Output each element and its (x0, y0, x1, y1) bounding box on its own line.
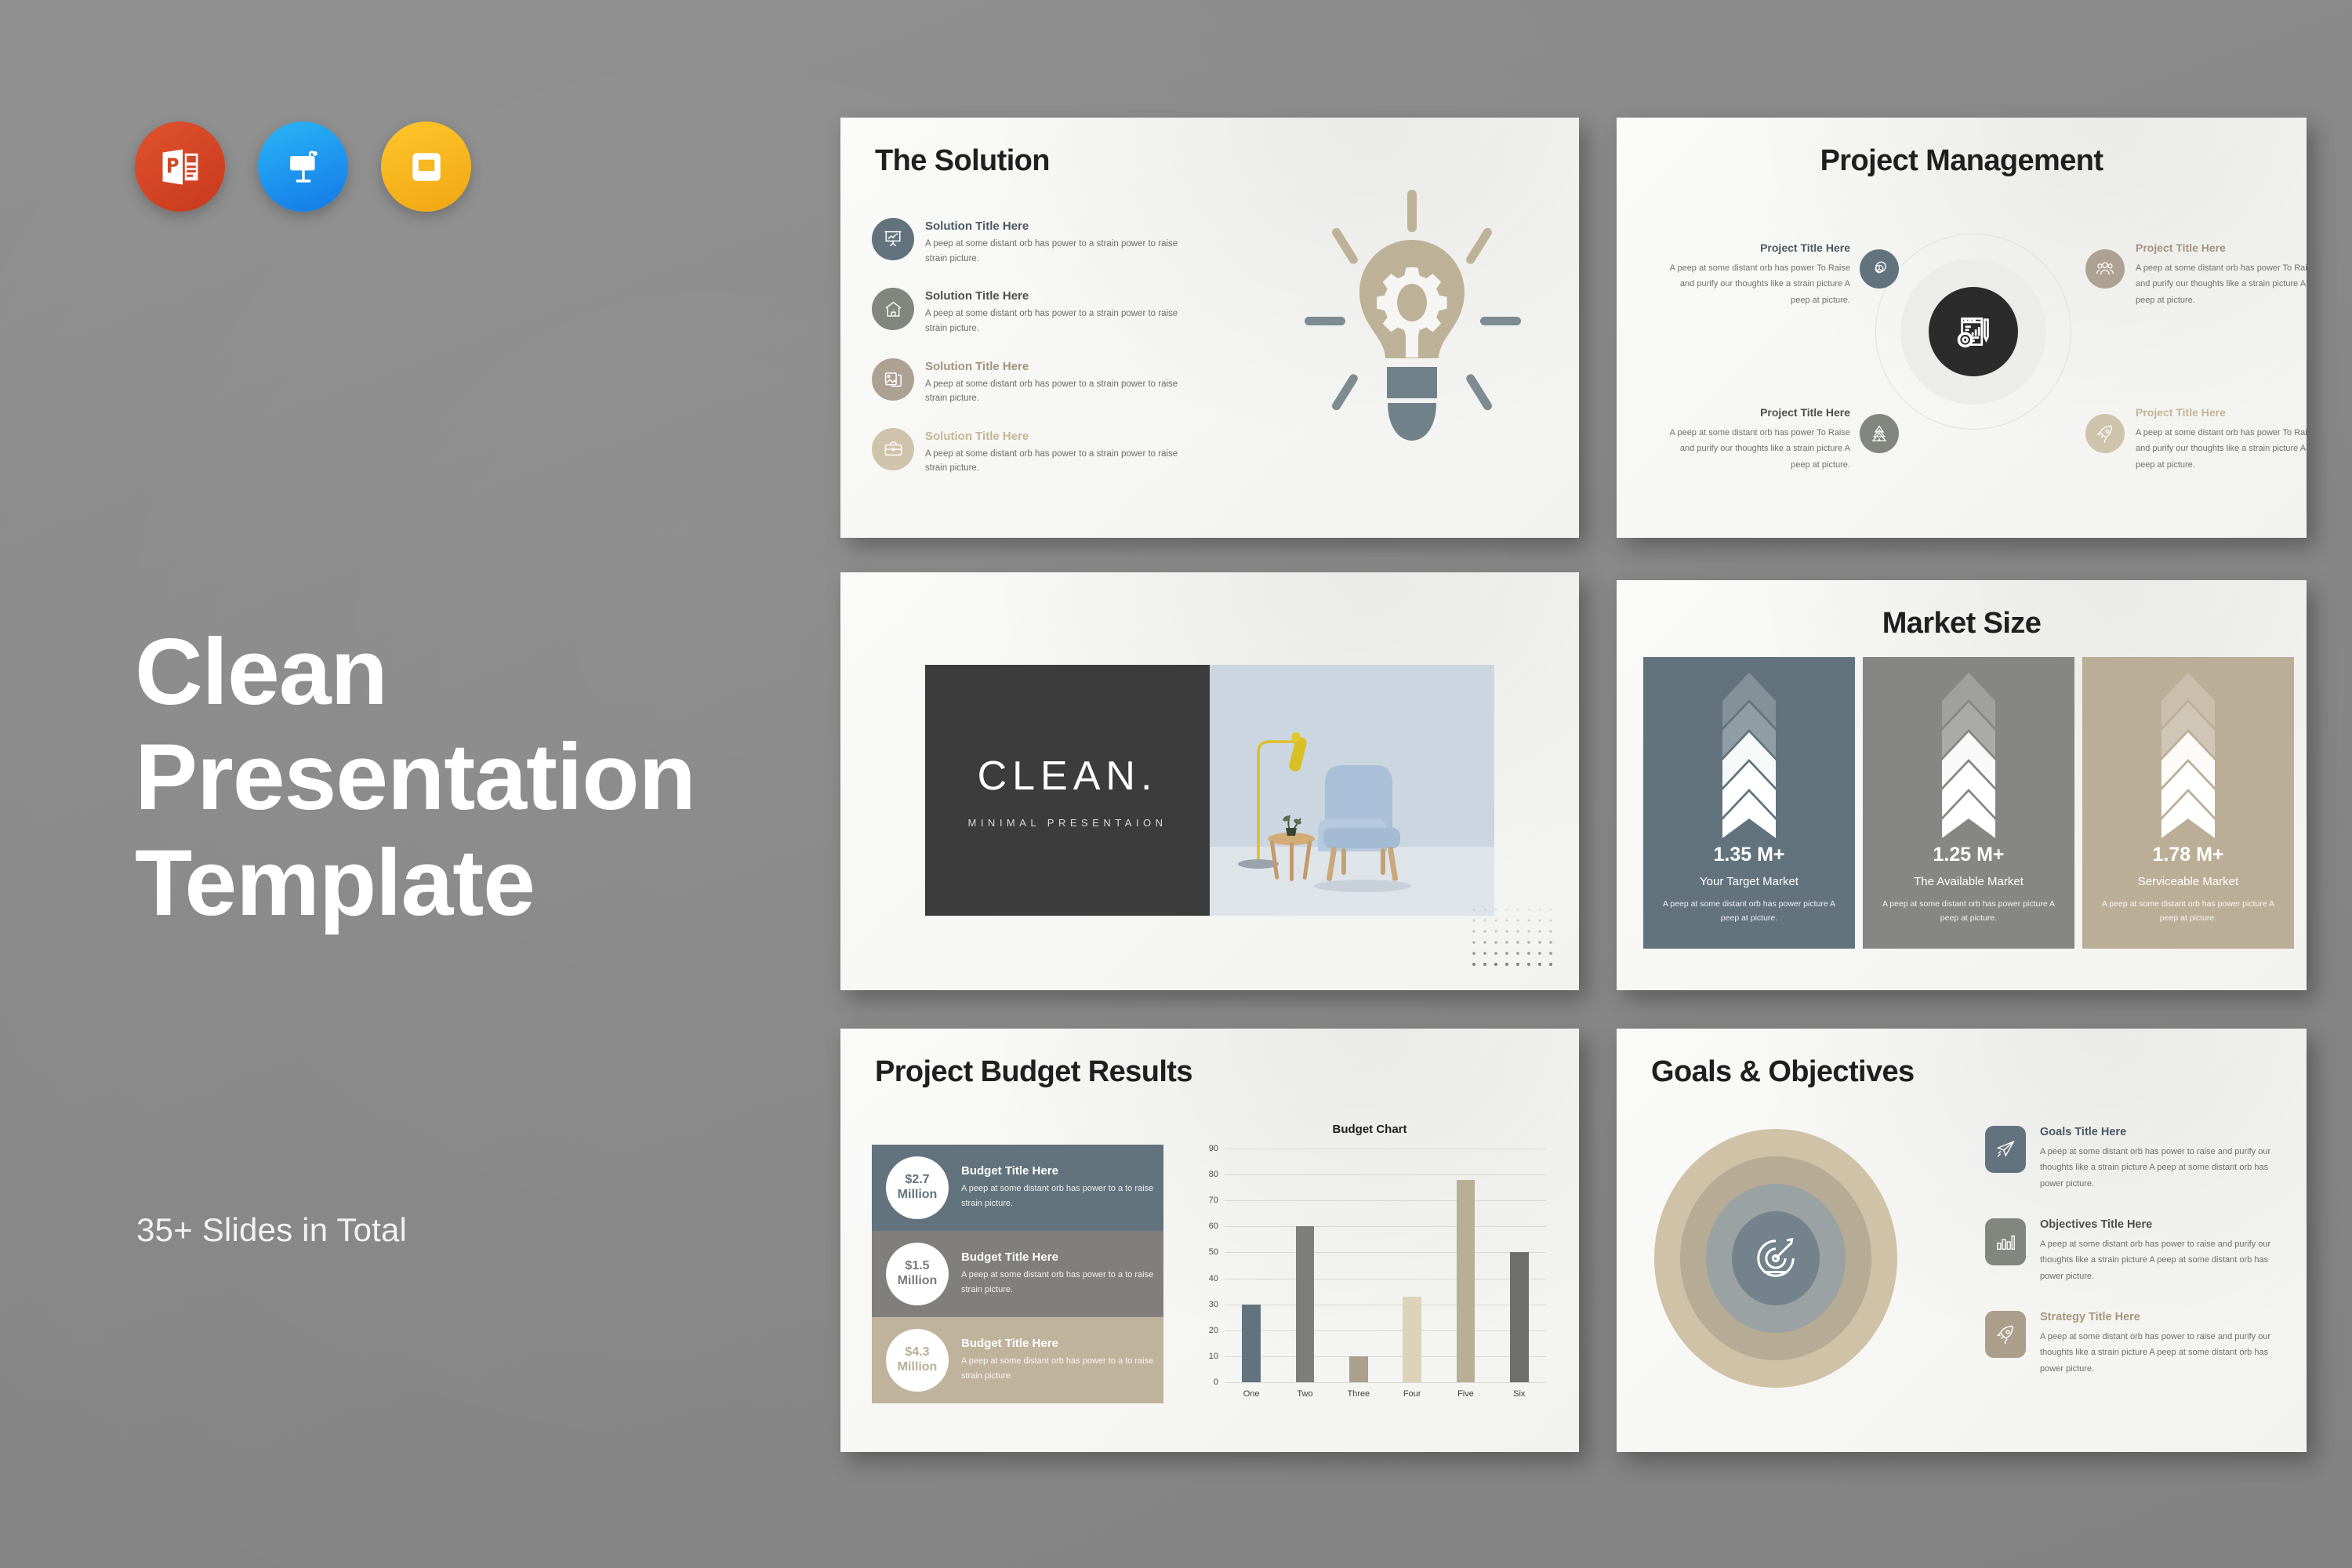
bar-column (1228, 1149, 1274, 1382)
budget-card-title: Budget Title Here (961, 1164, 1163, 1178)
x-axis-label: Two (1282, 1389, 1328, 1399)
market-card[interactable]: 1.25 M+ The Available Market A peep at s… (1863, 657, 2074, 949)
bar-column (1496, 1149, 1542, 1382)
list-item[interactable]: Objectives Title Here A peep at some dis… (1985, 1218, 2275, 1284)
y-axis-tick: 50 (1209, 1247, 1218, 1257)
chevron-stack-up-icon (1643, 671, 1855, 840)
list-item-title: Goals Title Here (2040, 1126, 2275, 1138)
list-item[interactable]: Project Title Here A peep at some distan… (1668, 241, 1850, 308)
list-item-body: A peep at some distant orb has power to … (925, 237, 1201, 266)
market-card-label: Serviceable Market (2082, 875, 2294, 888)
budget-amount-line-2: Million (898, 1360, 938, 1375)
keynote-icon (258, 122, 348, 212)
budget-card-title: Budget Title Here (961, 1250, 1163, 1264)
slide-goals-objectives[interactable]: Goals & Objectives Goals Title Here A pe… (1617, 1029, 2307, 1452)
list-item[interactable]: Solution Title Here A peep at some dista… (872, 218, 1201, 266)
people-icon (2085, 249, 2125, 289)
bar-chart-icon (1985, 1218, 2026, 1265)
home-icon (872, 288, 914, 330)
cover-text-panel: CLEAN. MINIMAL PRESENTAION (925, 665, 1210, 916)
list-item-title: Project Title Here (2136, 241, 2307, 254)
app-icon-row (135, 122, 471, 212)
bar-column (1443, 1149, 1489, 1382)
lightbulb-with-gear-icon (1295, 185, 1530, 463)
list-item[interactable]: Solution Title Here A peep at some dista… (872, 288, 1201, 336)
bar (1296, 1226, 1315, 1382)
slide-title: The Solution (875, 144, 1050, 178)
market-card-label: Your Target Market (1643, 875, 1855, 888)
slide-project-budget[interactable]: Project Budget Results $2.7 Million Budg… (840, 1029, 1579, 1452)
x-axis-label: One (1228, 1389, 1274, 1399)
bar (1403, 1297, 1421, 1382)
budget-amount-line-1: $2.7 (905, 1173, 929, 1188)
budget-amount-badge: $4.3 Million (886, 1329, 949, 1392)
y-axis-tick: 0 (1214, 1377, 1218, 1387)
market-card-body: A peep at some distant orb has power pic… (1877, 897, 2060, 926)
report-chart-pencil-gear-icon (1929, 287, 2018, 376)
list-item-body: A peep at some distant orb has power to … (2040, 1144, 2275, 1192)
paper-plane-icon (1985, 1126, 2026, 1173)
bar (1349, 1356, 1368, 1382)
market-card-body: A peep at some distant orb has power pic… (1657, 897, 1841, 926)
photos-icon (872, 358, 914, 401)
solution-item-list: Solution Title Here A peep at some dista… (872, 218, 1201, 498)
x-axis-label: Four (1388, 1389, 1435, 1399)
y-axis-tick: 10 (1209, 1352, 1218, 1361)
list-item[interactable]: Strategy Title Here A peep at some dista… (1985, 1311, 2275, 1377)
slide-cover[interactable]: CLEAN. MINIMAL PRESENTAION (840, 572, 1579, 990)
bar (1242, 1305, 1261, 1382)
budget-amount-badge: $2.7 Million (886, 1156, 949, 1219)
hero-panel: Clean Presentation Template 35+ Slides i… (0, 0, 815, 1568)
gear-wheel-icon (1860, 249, 1899, 289)
bar (1457, 1180, 1475, 1382)
list-item-title: Solution Title Here (925, 289, 1201, 303)
list-item-body: A peep at some distant orb has power to … (2040, 1236, 2275, 1284)
market-card-value: 1.78 M+ (2082, 844, 2294, 866)
y-axis-tick: 30 (1209, 1300, 1218, 1309)
slide-project-management[interactable]: Project Management (1617, 118, 2307, 538)
slide-the-solution[interactable]: The Solution Solution Title Here A peep … (840, 118, 1579, 538)
list-item-body: A peep at some distant orb has power to … (925, 307, 1201, 336)
slide-title: Project Management (1617, 144, 2307, 178)
list-item-title: Project Title Here (1668, 241, 1850, 254)
list-item[interactable]: Goals Title Here A peep at some distant … (1985, 1126, 2275, 1192)
dot-grid (1471, 906, 1555, 973)
list-item-body: A peep at some distant orb has power To … (1668, 425, 1850, 473)
y-axis-tick: 90 (1209, 1144, 1218, 1153)
bar (1510, 1252, 1529, 1382)
y-axis-tick: 80 (1209, 1170, 1218, 1179)
budget-chart: Budget Chart 0102030405060708090 OneTwoT… (1193, 1123, 1546, 1421)
list-item-title: Objectives Title Here (2040, 1218, 2275, 1231)
list-item-title: Project Title Here (2136, 406, 2307, 419)
y-axis-tick: 20 (1209, 1326, 1218, 1335)
cover-word: CLEAN. (978, 753, 1158, 800)
list-item[interactable]: Solution Title Here A peep at some dista… (872, 358, 1201, 406)
list-item[interactable]: Project Title Here A peep at some distan… (1668, 406, 1850, 473)
list-item-body: A peep at some distant orb has power To … (1668, 260, 1850, 308)
budget-card[interactable]: $4.3 Million Budget Title Here A peep at… (872, 1317, 1163, 1403)
interior-armchair-lamp-photo (1210, 665, 1494, 916)
chart-bars (1225, 1149, 1546, 1382)
y-axis-tick: 70 (1209, 1196, 1218, 1205)
slide-title: Market Size (1617, 607, 2307, 641)
budget-card-title: Budget Title Here (961, 1337, 1163, 1350)
y-axis-tick: 60 (1209, 1221, 1218, 1231)
list-item-body: A peep at some distant orb has power To … (2136, 425, 2307, 473)
bar-column (1335, 1149, 1381, 1382)
chart-title: Budget Chart (1193, 1123, 1546, 1136)
budget-card-body: A peep at some distant orb has power to … (961, 1354, 1163, 1383)
market-card[interactable]: 1.35 M+ Your Target Market A peep at som… (1643, 657, 1855, 949)
chart-plot-area: 0102030405060708090 (1225, 1149, 1546, 1382)
budget-card[interactable]: $2.7 Million Budget Title Here A peep at… (872, 1145, 1163, 1231)
pine-tree-icon (1860, 414, 1899, 453)
hero-subtitle: 35+ Slides in Total (136, 1211, 407, 1249)
x-axis-label: Three (1335, 1389, 1381, 1399)
concentric-rings-graphic (1654, 1129, 1897, 1388)
budget-card-body: A peep at some distant orb has power to … (961, 1268, 1163, 1297)
powerpoint-icon (135, 122, 225, 212)
slide-title: Goals & Objectives (1651, 1055, 1915, 1089)
market-card-value: 1.35 M+ (1643, 844, 1855, 866)
google-slides-icon (381, 122, 471, 212)
page-title: Clean Presentation Template (135, 619, 695, 935)
list-item[interactable]: Project Title Here A peep at some distan… (2136, 241, 2307, 308)
market-card-value: 1.25 M+ (1863, 844, 2074, 866)
presentation-screen-icon (872, 218, 914, 260)
slide-market-size[interactable]: Market Size 1.35 M+ Your Target Market A… (1617, 580, 2307, 990)
y-axis-tick: 40 (1209, 1274, 1218, 1283)
list-item-body: A peep at some distant orb has power To … (2136, 260, 2307, 308)
budget-amount-badge: $1.5 Million (886, 1243, 949, 1305)
list-item-title: Solution Title Here (925, 360, 1201, 373)
bar-column (1388, 1149, 1435, 1382)
list-item[interactable]: Solution Title Here A peep at some dista… (872, 428, 1201, 476)
list-item[interactable]: Project Title Here A peep at some distan… (2136, 406, 2307, 473)
x-axis-label: Five (1443, 1389, 1489, 1399)
rocket-icon (1985, 1311, 2026, 1358)
budget-amount-line-2: Million (898, 1274, 938, 1289)
x-axis-label: Six (1496, 1389, 1542, 1399)
chevron-stack-up-icon (2082, 671, 2294, 840)
hero-title-line-2: Presentation (135, 724, 695, 829)
market-card-body: A peep at some distant orb has power pic… (2096, 897, 2280, 926)
list-item-title: Project Title Here (1668, 406, 1850, 419)
market-card-row: 1.35 M+ Your Target Market A peep at som… (1643, 657, 2294, 949)
budget-amount-line-2: Million (898, 1188, 938, 1203)
hero-title-line-1: Clean (135, 619, 695, 724)
cover-subtitle: MINIMAL PRESENTAION (967, 817, 1167, 829)
list-item-body: A peep at some distant orb has power to … (925, 447, 1201, 476)
budget-card-list: $2.7 Million Budget Title Here A peep at… (872, 1145, 1163, 1403)
chart-x-axis-labels: OneTwoThreeFourFiveSix (1225, 1389, 1546, 1399)
briefcase-icon (872, 428, 914, 470)
goal-item-list: Goals Title Here A peep at some distant … (1985, 1126, 2275, 1403)
target-arrow-icon (1732, 1211, 1820, 1305)
budget-amount-line-1: $4.3 (905, 1345, 929, 1360)
list-item-title: Solution Title Here (925, 430, 1201, 443)
budget-amount-line-1: $1.5 (905, 1259, 929, 1274)
list-item-title: Solution Title Here (925, 220, 1201, 233)
budget-card-body: A peep at some distant orb has power to … (961, 1181, 1163, 1210)
budget-card[interactable]: $1.5 Million Budget Title Here A peep at… (872, 1231, 1163, 1317)
list-item-title: Strategy Title Here (2040, 1311, 2275, 1323)
hero-title-line-3: Template (135, 830, 695, 935)
bar-column (1282, 1149, 1328, 1382)
market-card[interactable]: 1.78 M+ Serviceable Market A peep at som… (2082, 657, 2294, 949)
market-card-label: The Available Market (1863, 875, 2074, 888)
list-item-body: A peep at some distant orb has power to … (2040, 1329, 2275, 1377)
list-item-body: A peep at some distant orb has power to … (925, 377, 1201, 406)
gridline: 0 (1225, 1382, 1546, 1383)
rocket-icon (2085, 414, 2125, 453)
chevron-stack-up-icon (1863, 671, 2074, 840)
slide-title: Project Budget Results (875, 1055, 1192, 1089)
